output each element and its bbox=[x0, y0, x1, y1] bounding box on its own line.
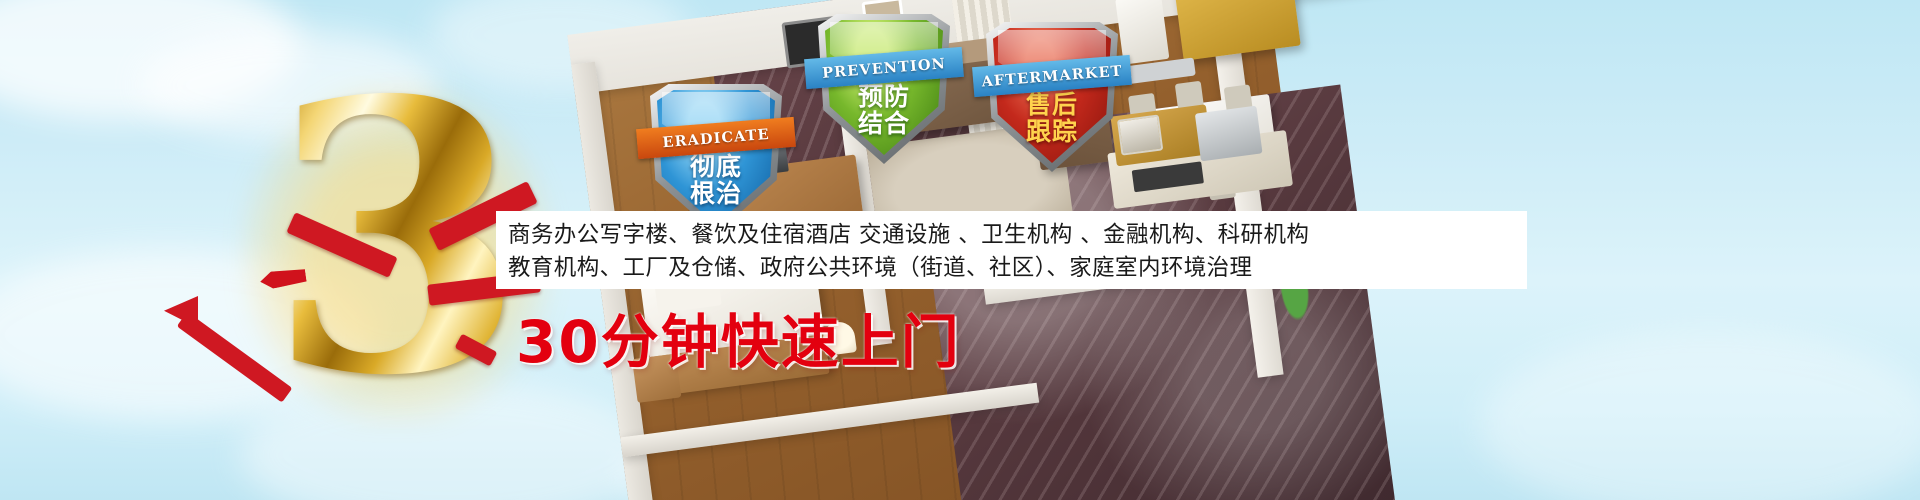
promotional-banner: 3 彻底 根治 ERADICATE 预防 结合 PREVENTION bbox=[0, 0, 1920, 500]
kitchen-sink bbox=[1195, 106, 1263, 162]
shield-chinese-line-2: 跟踪 bbox=[986, 118, 1118, 145]
kitchen-cabinet bbox=[1173, 0, 1301, 61]
shield-chinese-line-1: 预防 bbox=[818, 83, 950, 110]
shield-badge-prevention: 预防 结合 PREVENTION bbox=[818, 14, 950, 164]
service-scope-line-1: 商务办公写字楼、餐饮及住宿酒店 交通设施 、卫生机构 、金融机构、科研机构 bbox=[508, 219, 1527, 252]
shield-english-label: PREVENTION bbox=[822, 55, 947, 82]
shield-chinese-line-1: 售后 bbox=[986, 91, 1118, 118]
service-scope-line-2: 教育机构、工厂及仓储、政府公共环境（街道、社区）、家庭室内环境治理 bbox=[508, 252, 1527, 285]
oven bbox=[1117, 114, 1163, 155]
shield-chinese-line-2: 结合 bbox=[818, 110, 950, 137]
shield-chinese-text: 彻底 根治 bbox=[650, 153, 782, 207]
service-scope-box: 商务办公写字楼、餐饮及住宿酒店 交通设施 、卫生机构 、金融机构、科研机构 教育… bbox=[496, 211, 1527, 289]
shield-chinese-text: 售后 跟踪 bbox=[986, 91, 1118, 145]
shield-english-label: AFTERMARKET bbox=[981, 62, 1123, 90]
red-arrow-ribbon bbox=[152, 300, 332, 420]
shield-badge-aftermarket: 售后 跟踪 AFTERMARKET bbox=[986, 22, 1118, 172]
shield-english-label: ERADICATE bbox=[662, 125, 770, 150]
shield-chinese-line-2: 根治 bbox=[650, 180, 782, 207]
headline-text: 30分钟快速上门 bbox=[516, 295, 961, 379]
shield-chinese-line-1: 彻底 bbox=[650, 153, 782, 180]
shield-chinese-text: 预防 结合 bbox=[818, 83, 950, 137]
